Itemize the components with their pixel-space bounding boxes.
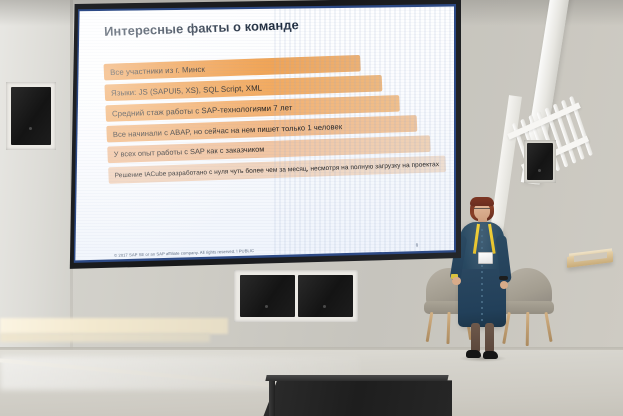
presenter-right-shoe [483,351,498,359]
presenter-left-shoe [466,350,481,358]
bullet-text: Языки: JS (SAPUI5, XS), SQL Script, XML [111,83,262,98]
glasses-icon [474,208,490,213]
lectern-body [262,380,452,416]
chair-leg [426,312,434,342]
presenter-fringe [470,197,494,206]
chair-leg [544,312,552,342]
bullet-text: Средний стаж работы с SAP-технологиями 7… [112,102,293,118]
lectern [262,375,452,416]
presentation-screen[interactable]: Интересные факты о команде Все участники… [61,0,461,270]
under-screen-speaker-left [240,275,295,317]
left-wall-speaker [11,87,51,145]
presenter-left-hand [452,277,461,285]
window-light-strip-lower [0,333,210,342]
lectern-top [265,375,448,381]
presenter-right-hand [500,281,508,289]
name-badge [478,252,493,264]
dress-button-placket [481,229,483,325]
under-screen-speaker-right [298,275,353,317]
lectern-edge [269,381,275,416]
slide-surface: Интересные факты о команде Все участники… [68,5,454,263]
wristwatch [499,276,508,280]
bullet-text: Решение IACube разработано с нуля чуть б… [115,160,440,179]
slide-bullet-list: Все участники из г. Минск Языки: JS (SAP… [104,52,447,188]
presenter-right-leg [485,323,494,353]
slide-page-number: 8 [416,242,419,247]
right-wall-speaker [527,143,553,180]
bullet-text: Все участники из г. Минск [110,64,205,77]
slide-title: Интересные факты о команде [104,13,446,39]
chair-leg [526,312,530,346]
presentation-room-photo: Интересные факты о команде Все участники… [0,0,623,416]
chair-leg [446,312,450,344]
bullet-text: Все начинали с ABAP, но сейчас на нем пи… [113,121,343,138]
window-light-strip [0,318,228,334]
presenter-left-leg [471,323,480,353]
bullet-text: У всех опыт работы с SAP как с заказчико… [114,145,265,159]
